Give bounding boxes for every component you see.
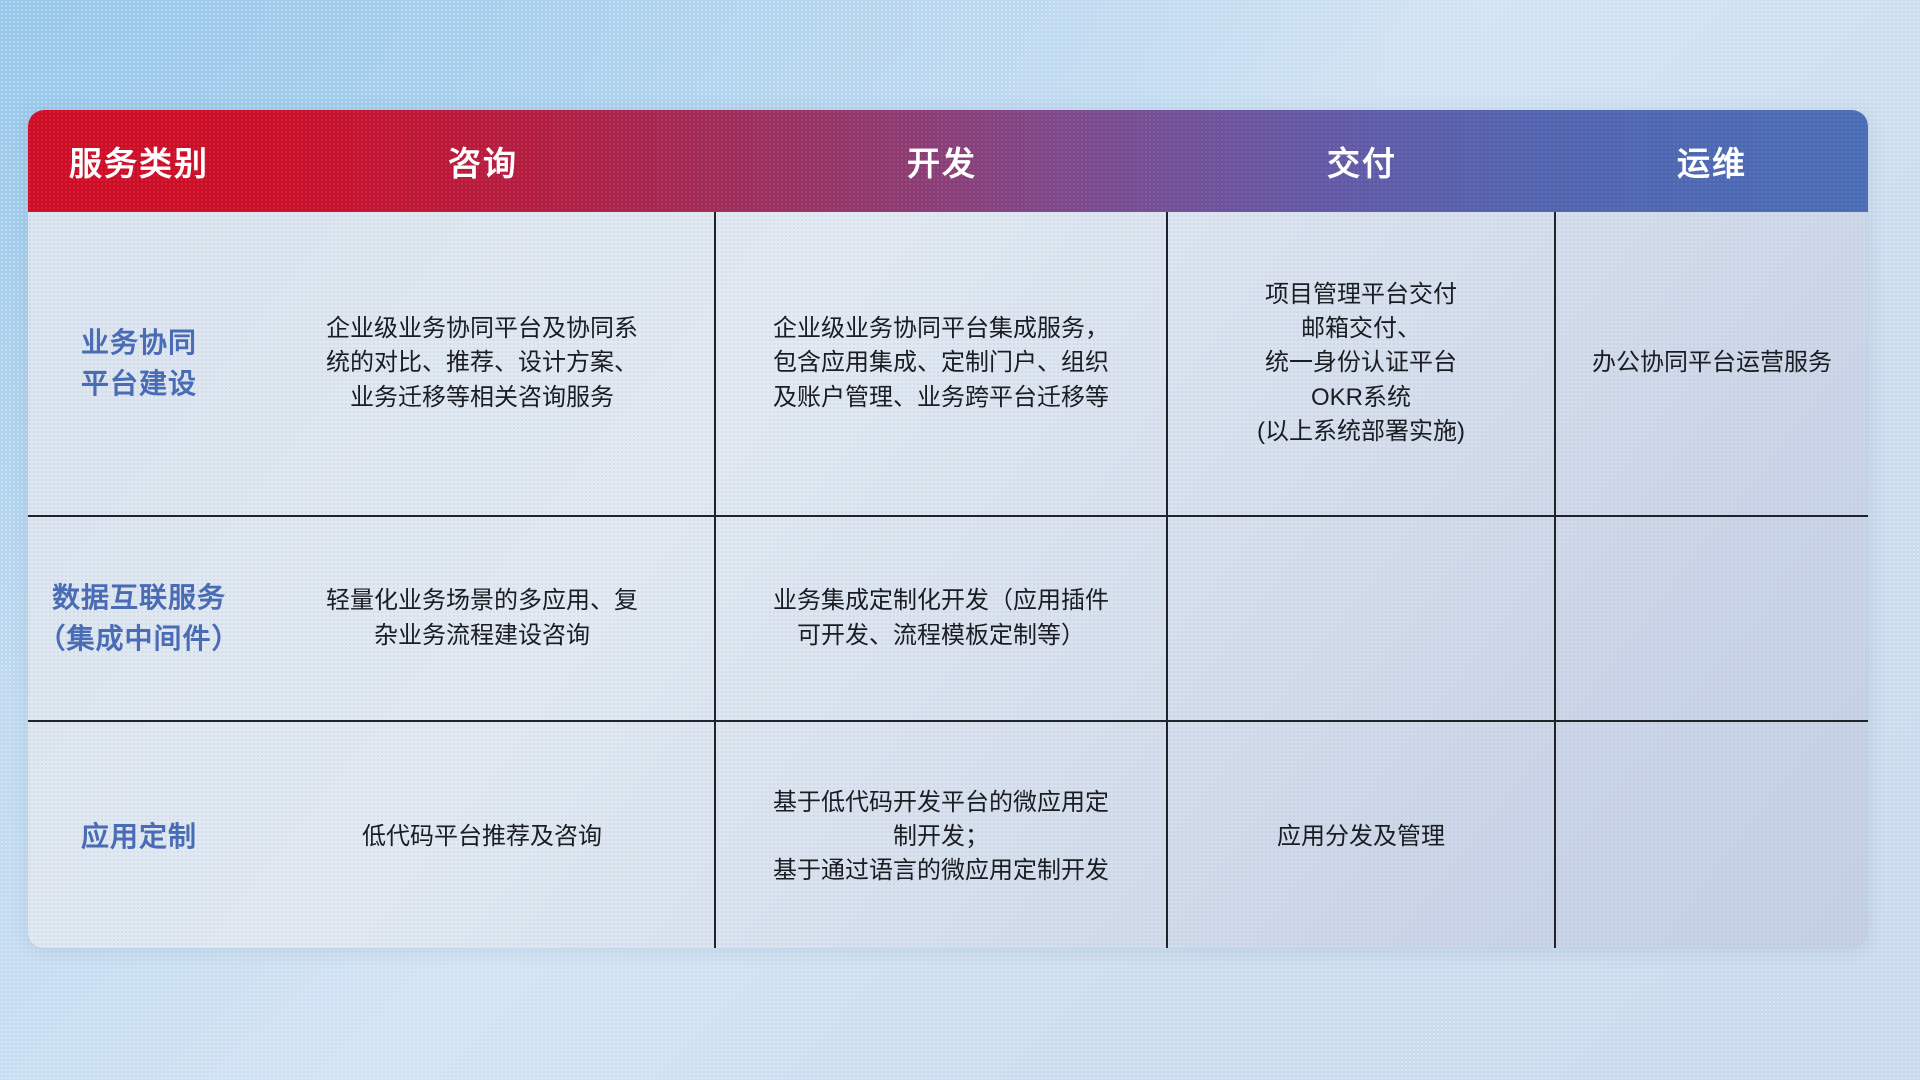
cell-development: 基于低代码开发平台的微应用定 制开发； 基于通过语言的微应用定制开发 bbox=[716, 722, 1168, 948]
cell-development: 业务集成定制化开发（应用插件 可开发、流程模板定制等） bbox=[716, 517, 1168, 720]
cell-text: 业务集成定制化开发（应用插件 可开发、流程模板定制等） bbox=[773, 584, 1109, 652]
table-row: 应用定制 低代码平台推荐及咨询 基于低代码开发平台的微应用定 制开发； 基于通过… bbox=[28, 720, 1868, 948]
service-matrix-card: 服务类别 咨询 开发 交付 运维 业务协同 平台建设 企业级业务协同平台及协同系… bbox=[28, 110, 1868, 948]
column-header-service-category: 服务类别 bbox=[28, 137, 250, 185]
cell-text: 企业级业务协同平台集成服务， 包含应用集成、定制门户、组织 及账户管理、业务跨平… bbox=[773, 312, 1109, 414]
cell-consulting: 低代码平台推荐及咨询 bbox=[250, 722, 716, 948]
cell-operations: 办公协同平台运营服务 bbox=[1556, 212, 1868, 515]
table-header-row: 服务类别 咨询 开发 交付 运维 bbox=[28, 110, 1868, 212]
cell-delivery bbox=[1168, 517, 1556, 720]
cell-development: 企业级业务协同平台集成服务， 包含应用集成、定制门户、组织 及账户管理、业务跨平… bbox=[716, 212, 1168, 515]
column-header-development: 开发 bbox=[716, 137, 1168, 185]
cell-category: 业务协同 平台建设 bbox=[28, 212, 250, 515]
category-label: 应用定制 bbox=[81, 817, 197, 858]
cell-consulting: 轻量化业务场景的多应用、复 杂业务流程建设咨询 bbox=[250, 517, 716, 720]
cell-consulting: 企业级业务协同平台及协同系 统的对比、推荐、设计方案、 业务迁移等相关咨询服务 bbox=[250, 212, 716, 515]
table-body: 业务协同 平台建设 企业级业务协同平台及协同系 统的对比、推荐、设计方案、 业务… bbox=[28, 212, 1868, 948]
cell-text: 基于低代码开发平台的微应用定 制开发； 基于通过语言的微应用定制开发 bbox=[773, 786, 1109, 888]
cell-delivery: 应用分发及管理 bbox=[1168, 722, 1556, 948]
cell-category: 应用定制 bbox=[28, 722, 250, 948]
cell-operations bbox=[1556, 517, 1868, 720]
cell-delivery: 项目管理平台交付 邮箱交付、 统一身份认证平台 OKR系统 (以上系统部署实施) bbox=[1168, 212, 1556, 515]
table-row: 业务协同 平台建设 企业级业务协同平台及协同系 统的对比、推荐、设计方案、 业务… bbox=[28, 212, 1868, 515]
cell-text: 轻量化业务场景的多应用、复 杂业务流程建设咨询 bbox=[326, 584, 638, 652]
column-header-operations: 运维 bbox=[1556, 137, 1868, 185]
cell-category: 数据互联服务 （集成中间件） bbox=[28, 517, 250, 720]
category-label: 数据互联服务 （集成中间件） bbox=[37, 578, 240, 659]
column-header-delivery: 交付 bbox=[1168, 137, 1556, 185]
cell-operations bbox=[1556, 722, 1868, 948]
table-row: 数据互联服务 （集成中间件） 轻量化业务场景的多应用、复 杂业务流程建设咨询 业… bbox=[28, 515, 1868, 720]
cell-text: 应用分发及管理 bbox=[1277, 820, 1445, 854]
cell-text: 项目管理平台交付 邮箱交付、 统一身份认证平台 OKR系统 (以上系统部署实施) bbox=[1257, 278, 1465, 448]
cell-text: 低代码平台推荐及咨询 bbox=[362, 820, 602, 854]
column-header-consulting: 咨询 bbox=[250, 137, 716, 185]
cell-text: 企业级业务协同平台及协同系 统的对比、推荐、设计方案、 业务迁移等相关咨询服务 bbox=[326, 312, 638, 414]
category-label: 业务协同 平台建设 bbox=[81, 323, 197, 404]
cell-text: 办公协同平台运营服务 bbox=[1592, 346, 1832, 380]
